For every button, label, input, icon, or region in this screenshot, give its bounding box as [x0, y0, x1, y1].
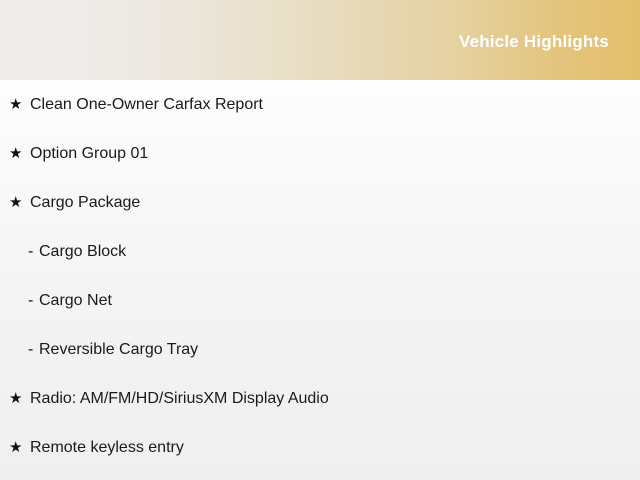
- star-icon: ★: [9, 97, 30, 112]
- vehicle-highlights-panel: Vehicle Highlights ★Clean One-Owner Carf…: [0, 0, 640, 480]
- list-item: ★Cargo Package: [0, 178, 640, 227]
- list-item: -Cargo Block: [0, 227, 640, 276]
- list-item-label: Reversible Cargo Tray: [39, 342, 198, 358]
- list-item-label: Radio: AM/FM/HD/SiriusXM Display Audio: [30, 391, 329, 407]
- list-item-label: Cargo Block: [39, 244, 126, 260]
- star-icon: ★: [9, 146, 30, 161]
- list-item: -Reversible Cargo Tray: [0, 325, 640, 374]
- highlights-list: ★Clean One-Owner Carfax Report★Option Gr…: [0, 80, 640, 472]
- dash-icon: -: [28, 244, 39, 260]
- star-icon: ★: [9, 195, 30, 210]
- list-item: ★Remote keyless entry: [0, 423, 640, 472]
- dash-icon: -: [28, 293, 39, 309]
- list-item-label: Clean One-Owner Carfax Report: [30, 97, 263, 113]
- dash-icon: -: [28, 342, 39, 358]
- list-item: -Cargo Net: [0, 276, 640, 325]
- list-item: ★Option Group 01: [0, 129, 640, 178]
- panel-header: Vehicle Highlights: [0, 0, 640, 80]
- page-title: Vehicle Highlights: [459, 33, 640, 50]
- list-item-label: Remote keyless entry: [30, 440, 184, 456]
- star-icon: ★: [9, 391, 30, 406]
- star-icon: ★: [9, 440, 30, 455]
- list-item: ★Clean One-Owner Carfax Report: [0, 80, 640, 129]
- list-item: ★Radio: AM/FM/HD/SiriusXM Display Audio: [0, 374, 640, 423]
- list-item-label: Cargo Net: [39, 293, 112, 309]
- list-item-label: Cargo Package: [30, 195, 140, 211]
- list-item-label: Option Group 01: [30, 146, 148, 162]
